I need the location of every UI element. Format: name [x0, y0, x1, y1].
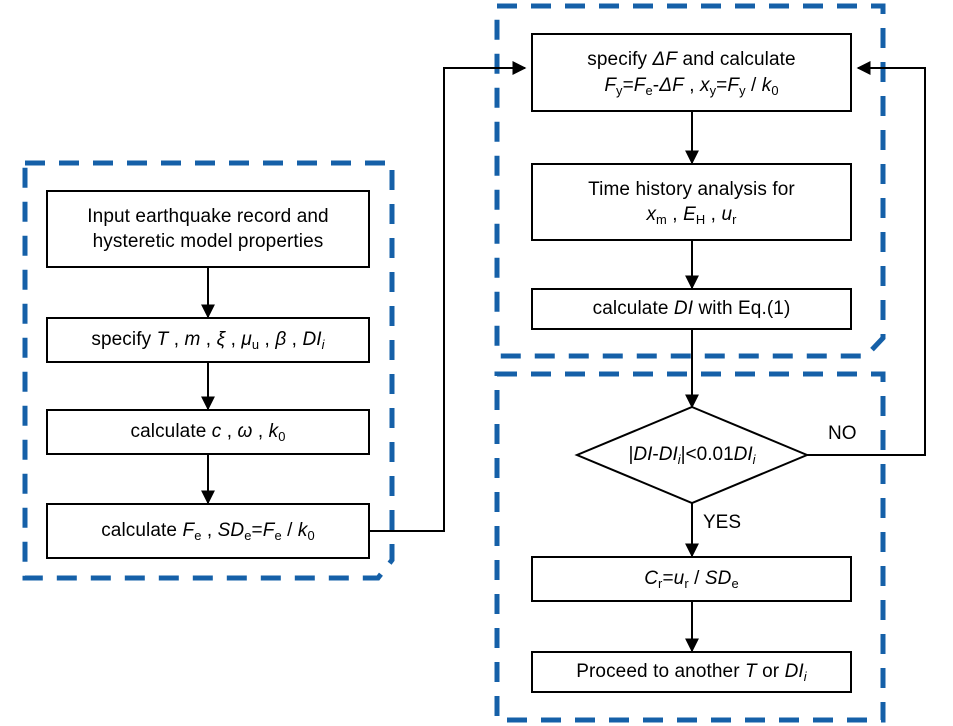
node-proceed-label: Proceed to another T or DIi [570, 659, 813, 684]
edge-label-no: NO [828, 423, 857, 445]
node-calc-c-omega-k0-label: calculate c , ω , k0 [124, 419, 291, 444]
flowchart-canvas: Input earthquake record and hysteretic m… [0, 0, 953, 726]
node-calc-fe-sde-label: calculate Fe , SDe=Fe / k0 [95, 518, 321, 543]
connector-decision-no [807, 68, 925, 455]
node-specify-df-label: specify ΔF and calculate Fy=Fe-ΔF , xy=F… [581, 47, 801, 97]
node-time-history-label: Time history analysis for xm , EH , ur [582, 177, 801, 227]
node-time-history[interactable]: Time history analysis for xm , EH , ur [531, 163, 852, 241]
node-calc-fe-sde[interactable]: calculate Fe , SDe=Fe / k0 [46, 503, 370, 559]
node-calc-di[interactable]: calculate DI with Eq.(1) [531, 288, 852, 330]
node-input-label: Input earthquake record and hysteretic m… [81, 204, 334, 254]
node-calc-c-omega-k0[interactable]: calculate c , ω , k0 [46, 409, 370, 455]
node-calc-cr[interactable]: Cr=ur / SDe [531, 556, 852, 602]
node-proceed[interactable]: Proceed to another T or DIi [531, 651, 852, 693]
node-specify-params-label: specify T , m , ξ , μu , β , DIi [85, 327, 330, 352]
node-input[interactable]: Input earthquake record and hysteretic m… [46, 190, 370, 268]
edge-label-yes: YES [703, 512, 741, 534]
node-convergence-test-label: |DI-DIi|<0.01DIi [592, 444, 792, 466]
node-calc-di-label: calculate DI with Eq.(1) [587, 296, 797, 321]
node-specify-params[interactable]: specify T , m , ξ , μu , β , DIi [46, 317, 370, 363]
node-specify-df[interactable]: specify ΔF and calculate Fy=Fe-ΔF , xy=F… [531, 33, 852, 112]
node-calc-cr-label: Cr=ur / SDe [638, 566, 745, 591]
